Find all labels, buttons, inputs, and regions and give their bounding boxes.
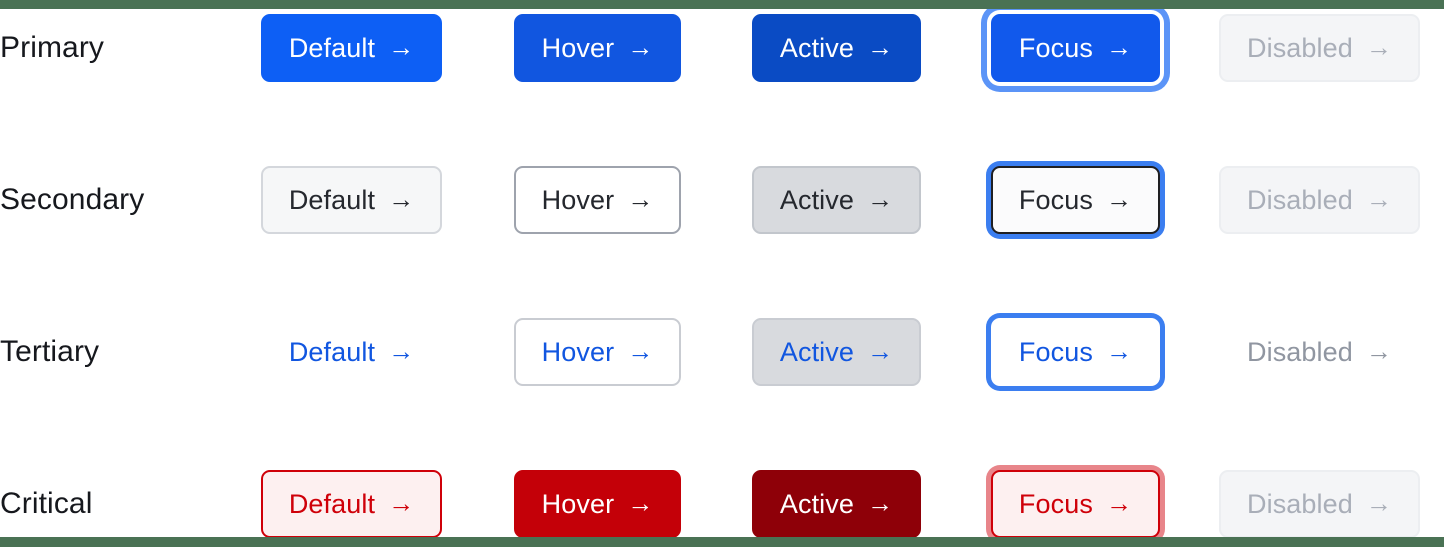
- button-tertiary-default[interactable]: Default→: [261, 318, 442, 386]
- button-label: Disabled: [1247, 489, 1353, 520]
- cell-tertiary-disabled: Disabled→: [1200, 316, 1439, 388]
- arrow-right-icon: →: [388, 490, 414, 516]
- cell-secondary-active: Active→: [717, 164, 956, 236]
- cell-primary-focus: Focus→: [956, 12, 1195, 84]
- row-label-secondary: Secondary: [0, 183, 236, 217]
- cell-primary-hover: Hover→: [478, 12, 717, 84]
- button-row-secondary: SecondaryDefault→Hover→Active→Focus→Disa…: [0, 164, 1444, 236]
- button-label: Active: [780, 489, 854, 520]
- button-tertiary-focus[interactable]: Focus→: [991, 318, 1160, 386]
- arrow-right-icon: →: [1106, 490, 1132, 516]
- cell-primary-active: Active→: [717, 12, 956, 84]
- arrow-right-icon: →: [1366, 490, 1392, 516]
- button-tertiary-hover[interactable]: Hover→: [514, 318, 682, 386]
- arrow-right-icon: →: [388, 186, 414, 212]
- cell-tertiary-active: Active→: [717, 316, 956, 388]
- button-tertiary-disabled: Disabled→: [1219, 318, 1420, 386]
- cell-critical-disabled: Disabled→: [1200, 468, 1439, 540]
- button-row-critical: CriticalDefault→Hover→Active→Focus→Disab…: [0, 468, 1444, 540]
- arrow-right-icon: →: [627, 186, 653, 212]
- button-critical-hover[interactable]: Hover→: [514, 470, 682, 538]
- button-primary-default[interactable]: Default→: [261, 14, 442, 82]
- button-label: Default: [289, 489, 375, 520]
- button-label: Disabled: [1247, 33, 1353, 64]
- row-label-primary: Primary: [0, 31, 236, 65]
- button-secondary-disabled: Disabled→: [1219, 166, 1420, 234]
- arrow-right-icon: →: [1106, 186, 1132, 212]
- button-row-tertiary: TertiaryDefault→Hover→Active→Focus→Disab…: [0, 316, 1444, 388]
- button-label: Disabled: [1247, 337, 1353, 368]
- cell-secondary-disabled: Disabled→: [1200, 164, 1439, 236]
- button-row-primary: PrimaryDefault→Hover→Active→Focus→Disabl…: [0, 12, 1444, 84]
- button-secondary-focus[interactable]: Focus→: [991, 166, 1160, 234]
- button-label: Focus: [1019, 33, 1093, 64]
- cell-critical-active: Active→: [717, 468, 956, 540]
- button-label: Hover: [542, 489, 615, 520]
- cell-tertiary-default: Default→: [232, 316, 471, 388]
- button-primary-disabled: Disabled→: [1219, 14, 1420, 82]
- button-secondary-hover[interactable]: Hover→: [514, 166, 682, 234]
- button-critical-active[interactable]: Active→: [752, 470, 921, 538]
- arrow-right-icon: →: [627, 338, 653, 364]
- cell-tertiary-hover: Hover→: [478, 316, 717, 388]
- cell-primary-default: Default→: [232, 12, 471, 84]
- cell-primary-disabled: Disabled→: [1200, 12, 1439, 84]
- button-secondary-active[interactable]: Active→: [752, 166, 921, 234]
- arrow-right-icon: →: [388, 338, 414, 364]
- button-label: Active: [780, 33, 854, 64]
- cell-secondary-default: Default→: [232, 164, 471, 236]
- button-critical-disabled: Disabled→: [1219, 470, 1420, 538]
- button-secondary-default[interactable]: Default→: [261, 166, 442, 234]
- row-label-critical: Critical: [0, 487, 236, 521]
- bottom-chrome-band: [0, 537, 1444, 547]
- cell-critical-hover: Hover→: [478, 468, 717, 540]
- button-label: Active: [780, 337, 854, 368]
- button-label: Default: [289, 185, 375, 216]
- button-primary-hover[interactable]: Hover→: [514, 14, 682, 82]
- button-critical-default[interactable]: Default→: [261, 470, 442, 538]
- arrow-right-icon: →: [867, 490, 893, 516]
- arrow-right-icon: →: [867, 338, 893, 364]
- arrow-right-icon: →: [1366, 34, 1392, 60]
- cell-secondary-hover: Hover→: [478, 164, 717, 236]
- arrow-right-icon: →: [1106, 338, 1132, 364]
- button-label: Focus: [1019, 337, 1093, 368]
- arrow-right-icon: →: [1366, 338, 1392, 364]
- cell-tertiary-focus: Focus→: [956, 316, 1195, 388]
- button-label: Active: [780, 185, 854, 216]
- button-label: Focus: [1019, 489, 1093, 520]
- arrow-right-icon: →: [867, 186, 893, 212]
- button-tertiary-active[interactable]: Active→: [752, 318, 921, 386]
- button-primary-focus[interactable]: Focus→: [991, 14, 1160, 82]
- button-label: Hover: [542, 185, 615, 216]
- cell-secondary-focus: Focus→: [956, 164, 1195, 236]
- top-chrome-band: [0, 0, 1444, 9]
- arrow-right-icon: →: [867, 34, 893, 60]
- arrow-right-icon: →: [627, 490, 653, 516]
- button-critical-focus[interactable]: Focus→: [991, 470, 1160, 538]
- cell-critical-default: Default→: [232, 468, 471, 540]
- arrow-right-icon: →: [627, 34, 653, 60]
- button-label: Hover: [542, 337, 615, 368]
- arrow-right-icon: →: [388, 34, 414, 60]
- button-primary-active[interactable]: Active→: [752, 14, 921, 82]
- button-label: Hover: [542, 33, 615, 64]
- button-label: Default: [289, 337, 375, 368]
- button-states-matrix: PrimaryDefault→Hover→Active→Focus→Disabl…: [0, 0, 1444, 547]
- button-label: Default: [289, 33, 375, 64]
- button-label: Disabled: [1247, 185, 1353, 216]
- arrow-right-icon: →: [1106, 34, 1132, 60]
- button-label: Focus: [1019, 185, 1093, 216]
- cell-critical-focus: Focus→: [956, 468, 1195, 540]
- row-label-tertiary: Tertiary: [0, 335, 236, 369]
- arrow-right-icon: →: [1366, 186, 1392, 212]
